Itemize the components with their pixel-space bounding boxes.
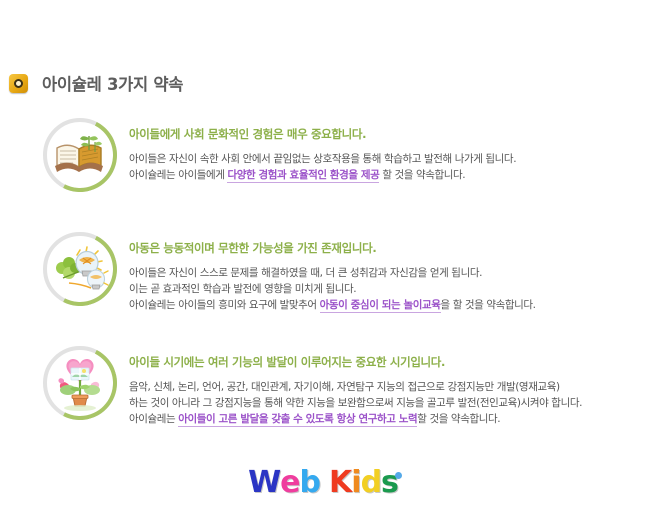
promise-line-2-3: 아이슐레는 아이들의 흥미와 요구에 발맞추어 아동이 중심이 되는 놀이교육을… xyxy=(129,297,650,313)
circle-badge-icon xyxy=(9,74,28,93)
logo-sparkle-dot-icon xyxy=(395,472,402,479)
line-post: 을 할 것을 약속합니다. xyxy=(441,299,536,311)
line-highlight: 아동이 중심이 되는 놀이교육 xyxy=(320,299,441,313)
logo-letter-s: s xyxy=(381,466,398,500)
promise-line-2-2: 이는 곧 효과적인 학습과 발전에 영향을 미치게 됩니다. xyxy=(129,281,650,297)
line-post: 할 것을 약속합니다. xyxy=(379,169,465,181)
line-highlight: 다양한 경험과 효율적인 환경을 제공 xyxy=(227,169,379,183)
open-book-with-sprouts-icon xyxy=(43,118,117,192)
lightbulbs-with-clover-icon xyxy=(43,232,117,306)
line-pre: 하는 것이 아니라 그 강점지능을 통해 약한 지능을 보완함으로써 지능을 골… xyxy=(129,397,582,409)
promise-line-1-1: 아이들은 자신이 속한 사회 안에서 끝임없는 상호작용을 통해 학습하고 발전… xyxy=(129,151,650,167)
line-pre: 아이슐레는 아이들의 흥미와 요구에 발맞추어 xyxy=(129,299,320,311)
promise-copy-1: 아이들에게 사회 문화적인 경험은 매우 중요합니다. 아이들은 자신이 속한 … xyxy=(129,118,650,183)
promise-line-2-1: 아이들은 자신이 스스로 문제를 해결하였을 때, 더 큰 성취감과 자신감을 … xyxy=(129,265,650,281)
promise-copy-3: 아이들 시기에는 여러 기능의 발달이 이루어지는 중요한 시기입니다. 음악,… xyxy=(129,346,650,427)
line-pre: 이는 곧 효과적인 학습과 발전에 영향을 미치게 됩니다. xyxy=(129,283,356,295)
line-post: 할 것을 약속합니다. xyxy=(417,413,500,425)
logo-letter-d: d xyxy=(361,466,381,500)
line-pre: 아이슐레는 xyxy=(129,413,178,425)
promise-line-1-2: 아이슐레는 아이들에게 다양한 경험과 효율적인 환경을 제공 할 것을 약속합… xyxy=(129,167,650,183)
line-pre: 아이들은 자신이 속한 사회 안에서 끝임없는 상호작용을 통해 학습하고 발전… xyxy=(129,153,516,165)
promise-lead-3: 아이들 시기에는 여러 기능의 발달이 이루어지는 중요한 시기입니다. xyxy=(129,354,650,370)
promise-lead-1: 아이들에게 사회 문화적인 경험은 매우 중요합니다. xyxy=(129,126,650,142)
circle-badge-inner-ring xyxy=(14,79,23,88)
web-kids-logo[interactable]: WebKids xyxy=(0,466,650,500)
lightbulb-clover-artwork xyxy=(49,238,111,300)
promise-line-3-1: 음악, 신체, 논리, 언어, 공간, 대인관계, 자기이해, 자연탐구 지능의… xyxy=(129,379,650,395)
line-pre: 음악, 신체, 논리, 언어, 공간, 대인관계, 자기이해, 자연탐구 지능의… xyxy=(129,381,560,393)
page-header: 아이슐레 3가지 약속 xyxy=(0,66,650,100)
promise-copy-2: 아동은 능동적이며 무한한 가능성을 가진 존재입니다. 아이들은 자신이 스스… xyxy=(129,232,650,313)
promise-block-1: 아이들에게 사회 문화적인 경험은 매우 중요합니다. 아이들은 자신이 속한 … xyxy=(0,118,650,192)
page-title: 아이슐레 3가지 약속 xyxy=(42,71,183,95)
promise-block-3: 아이들 시기에는 여러 기능의 발달이 이루어지는 중요한 시기입니다. 음악,… xyxy=(0,346,650,427)
line-pre: 아이슐레는 아이들에게 xyxy=(129,169,227,181)
line-highlight: 아이들이 고른 발달을 갖출 수 있도록 항상 연구하고 노력 xyxy=(178,413,417,427)
promise-block-2: 아동은 능동적이며 무한한 가능성을 가진 존재입니다. 아이들은 자신이 스스… xyxy=(0,232,650,313)
promise-line-3-2: 하는 것이 아니라 그 강점지능을 통해 약한 지능을 보완함으로써 지능을 골… xyxy=(129,395,650,411)
logo-letter-w: W xyxy=(248,466,280,500)
logo-letter-i: i xyxy=(351,466,360,500)
heart-tree-artwork xyxy=(49,352,111,414)
logo-letter-e: e xyxy=(280,466,299,500)
logo-letter-k: K xyxy=(329,466,351,500)
line-pre: 아이들은 자신이 스스로 문제를 해결하였을 때, 더 큰 성취감과 자신감을 … xyxy=(129,267,482,279)
promise-line-3-3: 아이슐레는 아이들이 고른 발달을 갖출 수 있도록 항상 연구하고 노력할 것… xyxy=(129,411,650,427)
promise-lead-2: 아동은 능동적이며 무한한 가능성을 가진 존재입니다. xyxy=(129,240,650,256)
logo-letter-b: b xyxy=(300,466,320,500)
book-sprout-artwork xyxy=(49,124,111,186)
heart-tree-in-pot-icon xyxy=(43,346,117,420)
